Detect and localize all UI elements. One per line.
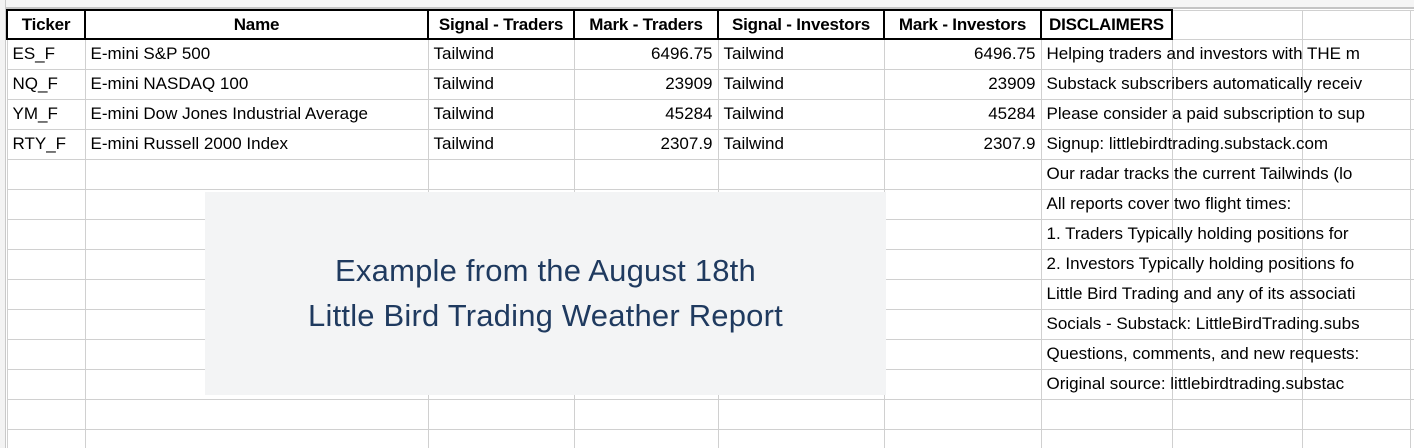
cell-ticker[interactable] (7, 189, 85, 219)
disclaimer-text: Socials - Substack: LittleBirdTrading.su… (1047, 314, 1360, 334)
cell-disclaimer[interactable]: Substack subscribers automatically recei… (1041, 69, 1172, 99)
table-row[interactable] (7, 399, 1414, 429)
cell-name[interactable]: E-mini Russell 2000 Index (85, 129, 428, 159)
column-header-blank[interactable] (1172, 10, 1302, 39)
cell-name[interactable]: E-mini S&P 500 (85, 39, 428, 69)
disclaimer-text: Please consider a paid subscription to s… (1047, 104, 1365, 124)
cell-ticker[interactable] (7, 159, 85, 189)
cell-disclaimer[interactable]: Original source: littlebirdtrading.subst… (1041, 369, 1172, 399)
disclaimer-text: Signup: littlebirdtrading.substack.com (1047, 134, 1329, 154)
cell-ticker[interactable]: ES_F (7, 39, 85, 69)
cell-ticker[interactable] (7, 309, 85, 339)
cell-mark-investors[interactable]: 45284 (884, 99, 1041, 129)
cell-empty[interactable] (1302, 189, 1410, 219)
cell-mark-investors[interactable] (884, 249, 1041, 279)
table-row[interactable]: Our radar tracks the current Tailwinds (… (7, 159, 1414, 189)
cell-mark-investors[interactable] (884, 159, 1041, 189)
cell-empty[interactable] (1410, 309, 1414, 339)
cell-ticker[interactable]: NQ_F (7, 69, 85, 99)
column-header-disclaimers[interactable]: DISCLAIMERS (1041, 10, 1172, 39)
disclaimer-text: Questions, comments, and new requests: (1047, 344, 1360, 364)
cell-disclaimer[interactable]: Questions, comments, and new requests: (1041, 339, 1172, 369)
column-header-mark-traders[interactable]: Mark - Traders (574, 10, 718, 39)
cell-ticker[interactable]: YM_F (7, 99, 85, 129)
cell-empty[interactable] (1410, 189, 1414, 219)
cell-ticker[interactable] (7, 399, 85, 429)
column-header-blank[interactable] (1410, 10, 1414, 39)
column-header-mark-investors[interactable]: Mark - Investors (884, 10, 1041, 39)
column-header-signal-traders[interactable]: Signal - Traders (428, 10, 574, 39)
disclaimer-text: 2. Investors Typically holding positions… (1047, 254, 1355, 274)
column-header-signal-investors[interactable]: Signal - Investors (718, 10, 884, 39)
watermark-line-2: Little Bird Trading Weather Report (308, 294, 783, 339)
watermark-callout: Example from the August 18th Little Bird… (205, 192, 886, 395)
table-row[interactable]: ES_FE-mini S&P 500Tailwind6496.75Tailwin… (7, 39, 1414, 69)
disclaimer-text: All reports cover two flight times: (1047, 194, 1292, 214)
cell-mark-investors[interactable] (884, 309, 1041, 339)
cell-mark-traders[interactable]: 2307.9 (574, 129, 718, 159)
cell-mark-investors[interactable] (884, 219, 1041, 249)
cell-empty[interactable] (1410, 429, 1414, 448)
disclaimer-text: Helping traders and investors with THE m (1047, 44, 1360, 64)
cell-empty[interactable] (1302, 429, 1410, 448)
cell-signal-investors[interactable]: Tailwind (718, 129, 884, 159)
cell-ticker[interactable] (7, 279, 85, 309)
cell-mark-traders[interactable]: 45284 (574, 99, 718, 129)
watermark-text: Example from the August 18th Little Bird… (308, 249, 783, 339)
cell-mark-traders[interactable] (574, 159, 718, 189)
cell-ticker[interactable] (7, 339, 85, 369)
disclaimer-text: Our radar tracks the current Tailwinds (… (1047, 164, 1353, 184)
column-header-name[interactable]: Name (85, 10, 428, 39)
table-header-row: TickerNameSignal - TradersMark - Traders… (7, 10, 1414, 39)
disclaimer-text: 1. Traders Typically holding positions f… (1047, 224, 1349, 244)
cell-signal-traders[interactable]: Tailwind (428, 39, 574, 69)
cell-ticker[interactable] (7, 219, 85, 249)
cell-signal-investors[interactable] (718, 399, 884, 429)
cell-ticker[interactable] (7, 369, 85, 399)
cell-disclaimer[interactable]: Our radar tracks the current Tailwinds (… (1041, 159, 1172, 189)
cell-mark-investors[interactable] (884, 399, 1041, 429)
cell-signal-traders[interactable] (428, 429, 574, 448)
cell-mark-investors[interactable]: 23909 (884, 69, 1041, 99)
table-row[interactable]: YM_FE-mini Dow Jones Industrial AverageT… (7, 99, 1414, 129)
cell-empty[interactable] (1410, 279, 1414, 309)
cell-mark-traders[interactable]: 23909 (574, 69, 718, 99)
cell-mark-traders[interactable]: 6496.75 (574, 39, 718, 69)
cell-mark-investors[interactable]: 6496.75 (884, 39, 1041, 69)
cell-empty[interactable] (1410, 159, 1414, 189)
cell-mark-investors[interactable] (884, 429, 1041, 448)
cell-ticker[interactable] (7, 429, 85, 448)
cell-mark-traders[interactable] (574, 399, 718, 429)
cell-empty[interactable] (1410, 219, 1414, 249)
cell-disclaimer[interactable]: Please consider a paid subscription to s… (1041, 99, 1172, 129)
spreadsheet-canvas[interactable]: TickerNameSignal - TradersMark - Traders… (0, 0, 1414, 448)
cell-empty[interactable] (1410, 369, 1414, 399)
cell-mark-investors[interactable] (884, 339, 1041, 369)
cell-empty[interactable] (1410, 249, 1414, 279)
cell-signal-traders[interactable] (428, 399, 574, 429)
cell-disclaimer[interactable]: 2. Investors Typically holding positions… (1041, 249, 1172, 279)
cell-empty[interactable] (1410, 39, 1414, 69)
cell-signal-investors[interactable]: Tailwind (718, 69, 884, 99)
clipped-top-row (6, 0, 1414, 9)
cell-disclaimer[interactable]: Little Bird Trading and any of its assoc… (1041, 279, 1172, 309)
cell-empty[interactable] (1302, 399, 1410, 429)
cell-ticker[interactable] (7, 249, 85, 279)
cell-mark-investors[interactable]: 2307.9 (884, 129, 1041, 159)
cell-signal-traders[interactable]: Tailwind (428, 99, 574, 129)
cell-ticker[interactable]: RTY_F (7, 129, 85, 159)
cell-signal-investors[interactable]: Tailwind (718, 39, 884, 69)
cell-disclaimer[interactable]: Helping traders and investors with THE m (1041, 39, 1172, 69)
cell-signal-investors[interactable] (718, 429, 884, 448)
cell-signal-investors[interactable]: Tailwind (718, 99, 884, 129)
watermark-line-1: Example from the August 18th (308, 249, 783, 294)
cell-disclaimer[interactable]: Socials - Substack: LittleBirdTrading.su… (1041, 309, 1172, 339)
cell-signal-traders[interactable]: Tailwind (428, 129, 574, 159)
cell-mark-investors[interactable] (884, 279, 1041, 309)
disclaimer-text: Substack subscribers automatically recei… (1047, 74, 1363, 94)
cell-empty[interactable] (1410, 399, 1414, 429)
cell-name[interactable] (85, 399, 428, 429)
cell-empty[interactable] (1410, 69, 1414, 99)
table-row[interactable]: NQ_FE-mini NASDAQ 100Tailwind23909Tailwi… (7, 69, 1414, 99)
column-header-blank[interactable] (1302, 10, 1410, 39)
column-header-ticker[interactable]: Ticker (7, 10, 85, 39)
cell-name[interactable] (85, 429, 428, 448)
cell-name[interactable]: E-mini NASDAQ 100 (85, 69, 428, 99)
cell-disclaimer[interactable]: All reports cover two flight times: (1041, 189, 1172, 219)
cell-mark-investors[interactable] (884, 369, 1041, 399)
cell-mark-traders[interactable] (574, 429, 718, 448)
cell-disclaimer[interactable] (1041, 429, 1172, 448)
disclaimer-text: Little Bird Trading and any of its assoc… (1047, 284, 1356, 304)
cell-empty[interactable] (1172, 399, 1302, 429)
table-row[interactable] (7, 429, 1414, 448)
disclaimer-text: Original source: littlebirdtrading.subst… (1047, 374, 1345, 394)
cell-signal-investors[interactable] (718, 159, 884, 189)
cell-empty[interactable] (1410, 339, 1414, 369)
cell-empty[interactable] (1172, 429, 1302, 448)
cell-signal-traders[interactable] (428, 159, 574, 189)
cell-disclaimer[interactable]: Signup: littlebirdtrading.substack.com (1041, 129, 1172, 159)
cell-empty[interactable] (1410, 99, 1414, 129)
cell-name[interactable] (85, 159, 428, 189)
cell-mark-investors[interactable] (884, 189, 1041, 219)
cell-empty[interactable] (1410, 129, 1414, 159)
cell-disclaimer[interactable]: 1. Traders Typically holding positions f… (1041, 219, 1172, 249)
cell-name[interactable]: E-mini Dow Jones Industrial Average (85, 99, 428, 129)
cell-signal-traders[interactable]: Tailwind (428, 69, 574, 99)
table-row[interactable]: RTY_FE-mini Russell 2000 IndexTailwind23… (7, 129, 1414, 159)
cell-disclaimer[interactable] (1041, 399, 1172, 429)
